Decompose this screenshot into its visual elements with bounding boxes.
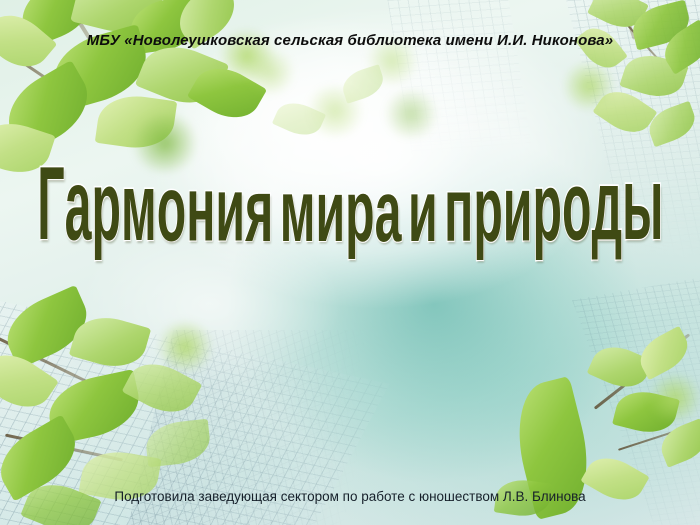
presentation-slide: МБУ «Новолеушковская сельская библиотека…	[0, 0, 700, 525]
foliage-top-center-image	[232, 30, 442, 160]
library-name-header: МБУ «Новолеушковская сельская библиотека…	[0, 32, 700, 49]
slide-title: Гармония мира и природы	[0, 152, 700, 302]
wordart-title: Гармония мира и природы	[37, 152, 663, 256]
author-credit-footer: Подготовила заведующая сектором по работ…	[0, 489, 700, 504]
